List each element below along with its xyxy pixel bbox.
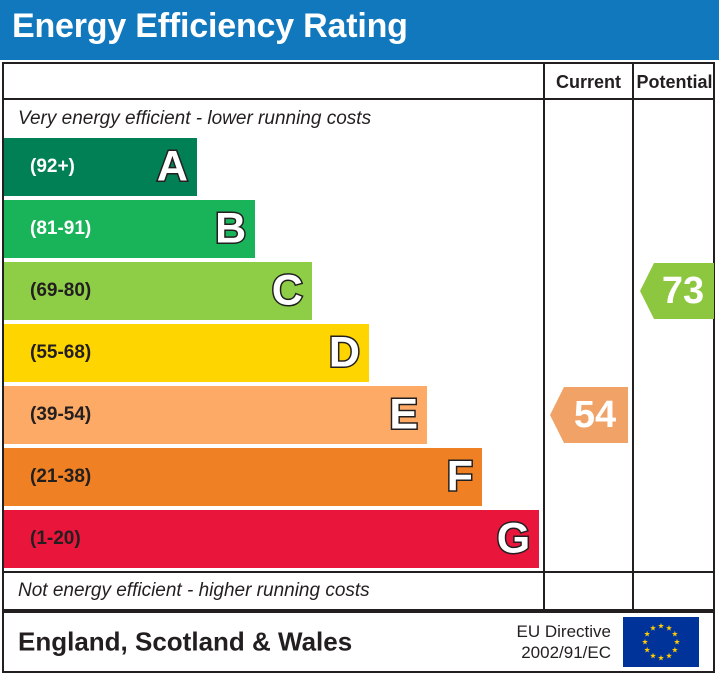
rating-value-current: 54 bbox=[562, 396, 616, 434]
band-a: (92+)A bbox=[4, 138, 197, 196]
column-header-current: Current bbox=[545, 72, 632, 93]
page-title: Energy Efficiency Rating bbox=[12, 7, 408, 46]
band-range-label: (21-38) bbox=[30, 466, 91, 488]
band-range-label: (55-68) bbox=[30, 342, 91, 364]
band-letter-label: D bbox=[329, 332, 360, 375]
band-letter-label: F bbox=[447, 456, 473, 499]
band-letter-label: C bbox=[272, 270, 303, 313]
band-range-label: (92+) bbox=[30, 156, 75, 178]
band-letter-label: A bbox=[157, 146, 188, 189]
column-divider-current bbox=[543, 64, 545, 609]
eu-flag-icon bbox=[623, 617, 699, 667]
rating-arrow-current: 54 bbox=[550, 387, 628, 443]
band-b: (81-91)B bbox=[4, 200, 255, 258]
rating-value-potential: 73 bbox=[650, 272, 704, 310]
band-d: (55-68)D bbox=[4, 324, 369, 382]
rating-arrow-potential: 73 bbox=[640, 263, 714, 319]
footer-region-label: England, Scotland & Wales bbox=[18, 627, 352, 658]
band-g: (1-20)G bbox=[4, 510, 539, 568]
column-divider-potential bbox=[632, 64, 634, 609]
energy-efficiency-rating-chart: Energy Efficiency Rating Current Potenti… bbox=[0, 0, 719, 675]
chart-footer: England, Scotland & Wales EU Directive 2… bbox=[2, 611, 715, 673]
caption-efficient: Very energy efficient - lower running co… bbox=[4, 100, 543, 138]
band-letter-label: E bbox=[389, 394, 418, 437]
band-c: (69-80)C bbox=[4, 262, 312, 320]
band-list: (92+)A(81-91)B(69-80)C(55-68)D(39-54)E(2… bbox=[4, 138, 543, 571]
band-range-label: (1-20) bbox=[30, 528, 81, 550]
band-range-label: (39-54) bbox=[30, 404, 91, 426]
band-f: (21-38)F bbox=[4, 448, 482, 506]
rating-table: Current Potential Very energy efficient … bbox=[2, 62, 715, 611]
band-letter-label: G bbox=[497, 518, 530, 561]
band-e: (39-54)E bbox=[4, 386, 427, 444]
band-letter-label: B bbox=[215, 208, 246, 251]
directive-line-2: 2002/91/EC bbox=[517, 642, 611, 663]
band-range-label: (81-91) bbox=[30, 218, 91, 240]
directive-line-1: EU Directive bbox=[517, 621, 611, 642]
footer-directive-label: EU Directive 2002/91/EC bbox=[517, 621, 611, 664]
chart-title-bar: Energy Efficiency Rating bbox=[0, 0, 719, 60]
column-header-potential: Potential bbox=[634, 72, 715, 93]
caption-inefficient: Not energy efficient - higher running co… bbox=[4, 571, 543, 609]
band-range-label: (69-80) bbox=[30, 280, 91, 302]
